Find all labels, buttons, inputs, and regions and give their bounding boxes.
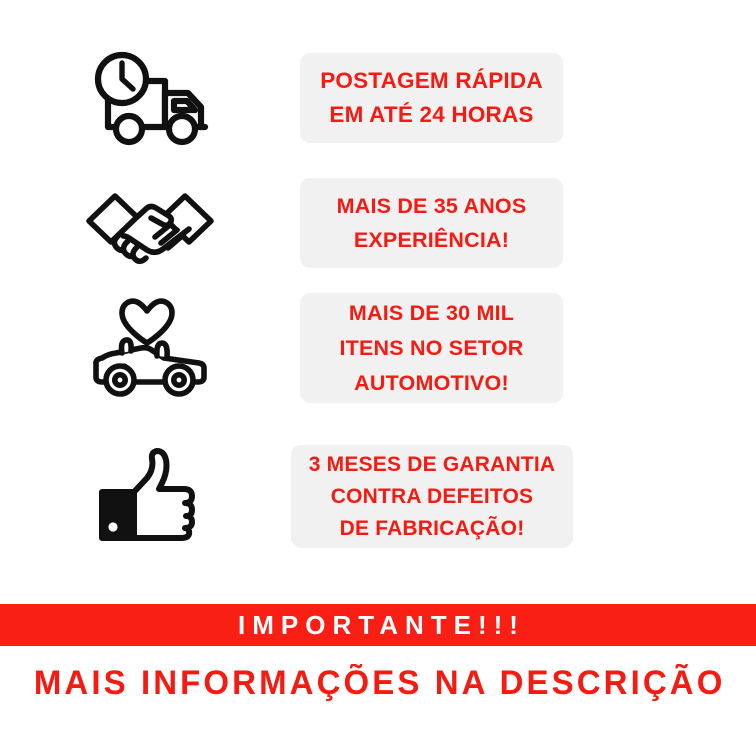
feature-line: MAIS DE 30 MIL: [349, 296, 514, 331]
feature-line: POSTAGEM RÁPIDA: [320, 64, 543, 98]
feature-line: 3 MESES DE GARANTIA: [309, 449, 556, 481]
description-note: MAIS INFORMAÇÕES NA DESCRIÇÃO: [0, 655, 756, 711]
feature-row-garantia: 3 MESES DE GARANTIA CONTRA DEFEITOS DE F…: [0, 445, 756, 548]
features-list: POSTAGEM RÁPIDA EM ATÉ 24 HORAS: [0, 0, 756, 595]
feature-row-itens: MAIS DE 30 MIL ITENS NO SETOR AUTOMOTIVO…: [0, 293, 756, 403]
feature-line: MAIS DE 35 ANOS: [337, 189, 527, 223]
important-banner-text: IMPORTANTE!!!: [231, 610, 525, 641]
description-note-text: MAIS INFORMAÇÕES NA DESCRIÇÃO: [31, 664, 726, 703]
important-banner: IMPORTANTE!!!: [0, 604, 756, 646]
feature-line: EM ATÉ 24 HORAS: [329, 98, 533, 132]
car-heart-icon: [0, 295, 300, 401]
feature-row-experiencia: MAIS DE 35 ANOS EXPERIÊNCIA!: [0, 178, 756, 268]
feature-card-garantia: 3 MESES DE GARANTIA CONTRA DEFEITOS DE F…: [291, 445, 573, 548]
feature-line: DE FABRICAÇÃO!: [340, 513, 525, 545]
feature-line: AUTOMOTIVO!: [354, 366, 509, 401]
delivery-truck-clock-icon: [0, 50, 300, 146]
feature-row-postagem: POSTAGEM RÁPIDA EM ATÉ 24 HORAS: [0, 53, 756, 143]
thumbs-up-icon: [0, 445, 300, 549]
feature-card-experiencia: MAIS DE 35 ANOS EXPERIÊNCIA!: [300, 178, 563, 268]
feature-card-itens: MAIS DE 30 MIL ITENS NO SETOR AUTOMOTIVO…: [300, 293, 563, 403]
feature-line: EXPERIÊNCIA!: [354, 223, 509, 257]
handshake-icon: [0, 177, 300, 269]
feature-card-postagem: POSTAGEM RÁPIDA EM ATÉ 24 HORAS: [300, 53, 563, 143]
feature-line: CONTRA DEFEITOS: [331, 481, 534, 513]
feature-line: ITENS NO SETOR: [340, 331, 524, 366]
